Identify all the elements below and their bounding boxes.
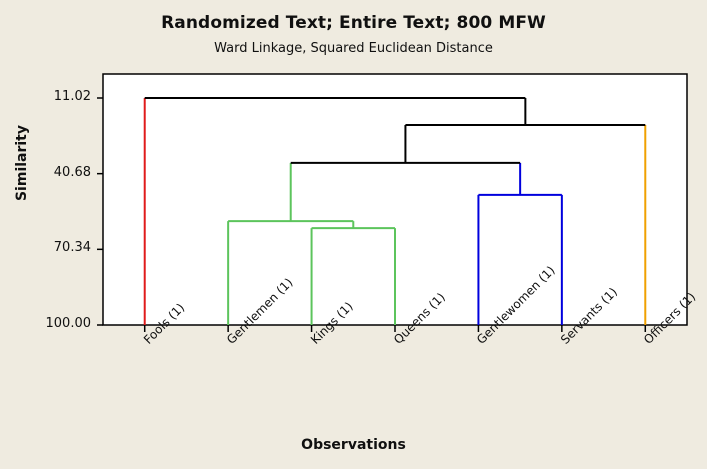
y-axis-ticks [97,98,103,325]
plot-canvas [0,0,707,469]
y-tick-label: 70.34 [27,240,91,255]
y-tick-label: 11.02 [27,89,91,104]
dendrogram-chart: Randomized Text; Entire Text; 800 MFW Wa… [0,0,707,469]
y-tick-label: 40.68 [27,165,91,180]
y-tick-label: 100.00 [27,316,91,331]
